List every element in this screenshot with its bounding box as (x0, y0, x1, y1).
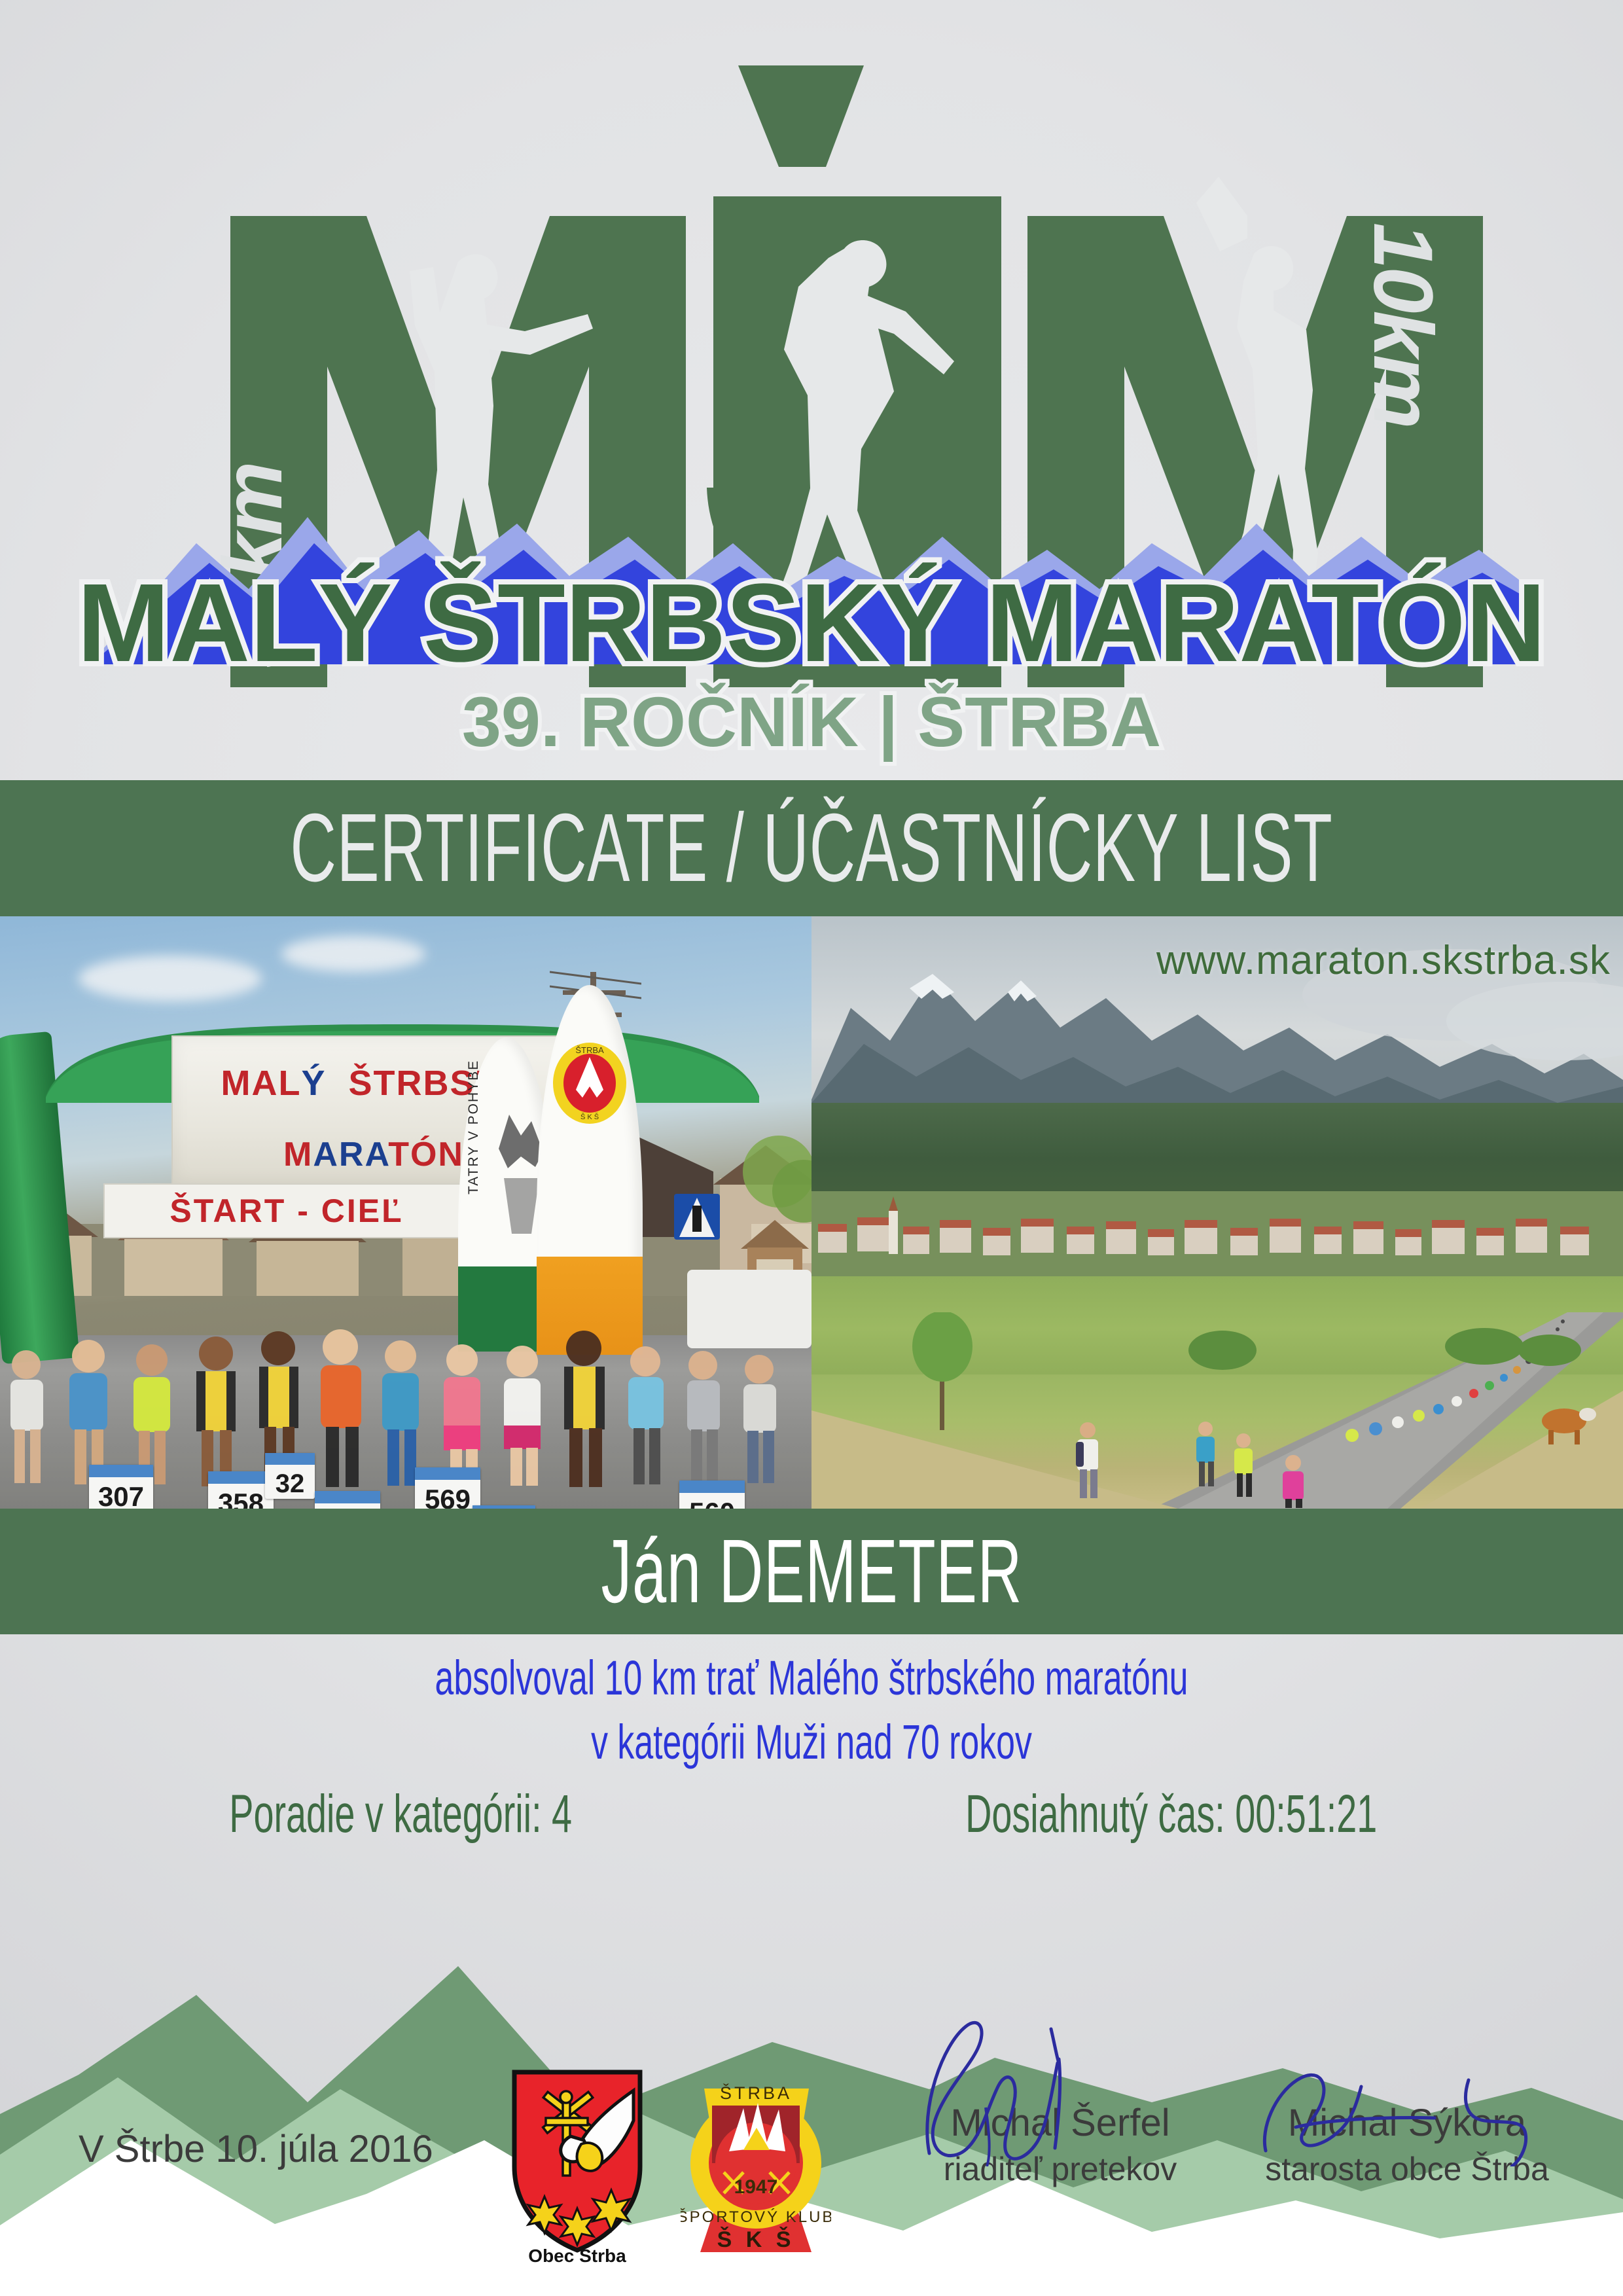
cloud (79, 956, 262, 1001)
photo-tatras-course: www.maraton.skstrba.sk (811, 916, 1623, 1509)
start-finish-text: ŠTART - CIEĽ (169, 1192, 403, 1230)
sks-arc-text: ŠPORTOVÝ KLUB (681, 2208, 831, 2226)
caron-accent (738, 65, 864, 167)
bib-number: 307 (89, 1465, 153, 1509)
photo-race-start: MALÝ ŠTRBSKÝ MARATÓN ŠTART - CIEĽ TATRY … (0, 916, 811, 1509)
rank-in-category: Poradie v kategórii: 4 (229, 1784, 572, 1845)
place-and-date: V Štrbe 10. júla 2016 (79, 2127, 433, 2171)
photo-road-runners (811, 1312, 1623, 1509)
sks-abbrev: Š K Š (717, 2227, 795, 2252)
event-name-text: MALÝ ŠTRBSKÝ MARATÓN (77, 561, 1546, 685)
bib-number: 560 (679, 1480, 745, 1509)
bib-number: 359 (315, 1491, 380, 1509)
description-line-2: v kategórii Muži nad 70 rokov (243, 1710, 1380, 1774)
msm-logo-svg: 31km 10km MALÝ ŠTRBSKÝ MARATÓN 39. ROČNÍ… (0, 0, 1623, 776)
svg-text:10km: 10km (1356, 223, 1450, 426)
bib-number: 358 (208, 1471, 274, 1509)
participant-name-band: Ján DEMETER (0, 1509, 1623, 1634)
svg-text:ŠTRBA: ŠTRBA (575, 1045, 604, 1055)
certificate-page: 31km 10km MALÝ ŠTRBSKÝ MARATÓN 39. ROČNÍ… (0, 0, 1623, 2296)
sks-top-text: ŠTRBA (720, 2083, 792, 2103)
certificate-title-band: CERTIFICATE / ÚČASTNÍCKY LIST (0, 780, 1623, 916)
description-line-1: absolvoval 10 km trať Malého štrbského m… (243, 1646, 1380, 1710)
event-logo-block: 31km 10km MALÝ ŠTRBSKÝ MARATÓN 39. ROČNÍ… (0, 0, 1623, 776)
participant-name: Ján DEMETER (601, 1520, 1022, 1624)
signature-mark (1198, 2003, 1616, 2166)
participant-details: absolvoval 10 km trať Malého štrbského m… (0, 1646, 1623, 1774)
results-row: Poradie v kategórii: 4 Dosiahnutý čas: 0… (0, 1784, 1623, 1845)
svg-text:TATRY V POHYBE: TATRY V POHYBE (466, 1060, 481, 1194)
obec-caption: Obec Štrba (528, 2245, 626, 2265)
obec-strba-emblem: Obec Štrba (505, 2068, 649, 2265)
bib-number: 32 (265, 1453, 315, 1499)
achieved-time: Dosiahnutý čas: 00:51:21 (966, 1784, 1378, 1845)
website-url: www.maraton.skstrba.sk (1156, 937, 1611, 984)
distance-right-text: 10km (1356, 223, 1450, 426)
sks-year: 1947 (734, 2176, 778, 2198)
photo-strip: MALÝ ŠTRBSKÝ MARATÓN ŠTART - CIEĽ TATRY … (0, 916, 1623, 1509)
edition-text: 39. ROČNÍK | ŠTRBA (462, 682, 1161, 762)
pedestrian-crossing-sign (673, 1193, 721, 1245)
cloud (281, 936, 425, 972)
start-finish-banner: ŠTART - CIEĽ (103, 1183, 470, 1238)
signature-block-mayor: Michal Sýkora starosta obce Štrba (1198, 2101, 1616, 2188)
certificate-title: CERTIFICATE / ÚČASTNÍCKY LIST (290, 793, 1332, 904)
svg-text:Š K Š: Š K Š (580, 1113, 599, 1121)
sks-emblem: ŠTRBA 1947 ŠPORTOVÝ KLUB Š K Š (681, 2065, 831, 2261)
certificate-footer: V Štrbe 10. júla 2016 Obec Štrba (0, 2003, 1623, 2296)
bib-number: 569 (415, 1467, 480, 1509)
